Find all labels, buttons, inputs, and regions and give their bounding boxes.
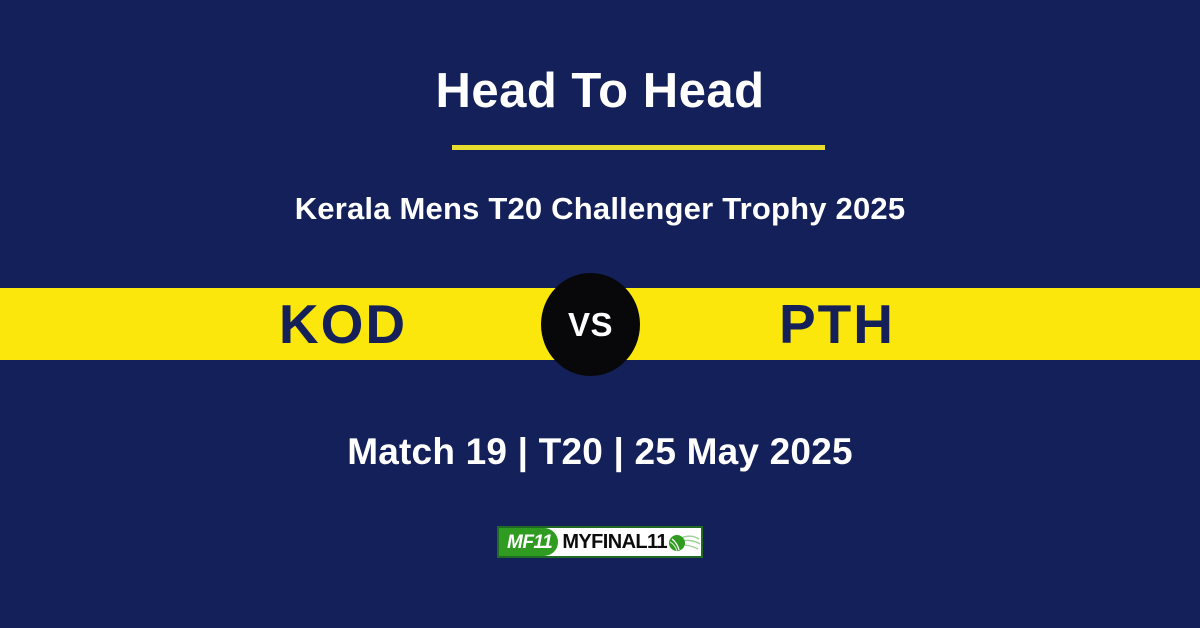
brand-mark-text: MF11 bbox=[507, 533, 552, 552]
page-title: Head To Head bbox=[0, 58, 1200, 124]
versus-label: VS bbox=[568, 306, 613, 344]
cricket-ball-icon bbox=[667, 528, 701, 556]
versus-badge: VS bbox=[541, 273, 640, 376]
brand-word-text: MYFINAL11 bbox=[562, 532, 667, 552]
head-to-head-banner: Head To Head Kerala Mens T20 Challenger … bbox=[0, 0, 1200, 628]
tournament-name: Kerala Mens T20 Challenger Trophy 2025 bbox=[0, 186, 1200, 232]
match-meta: Match 19 | T20 | 25 May 2025 bbox=[0, 427, 1200, 477]
team-right-short-name: PTH bbox=[687, 288, 987, 360]
team-left-short-name: KOD bbox=[193, 288, 493, 360]
brand-mark: MF11 bbox=[499, 528, 558, 556]
brand-logo: MF11 MYFINAL11 bbox=[497, 526, 703, 558]
brand-wordmark: MYFINAL11 bbox=[558, 528, 667, 556]
title-underline-accent bbox=[452, 145, 825, 150]
